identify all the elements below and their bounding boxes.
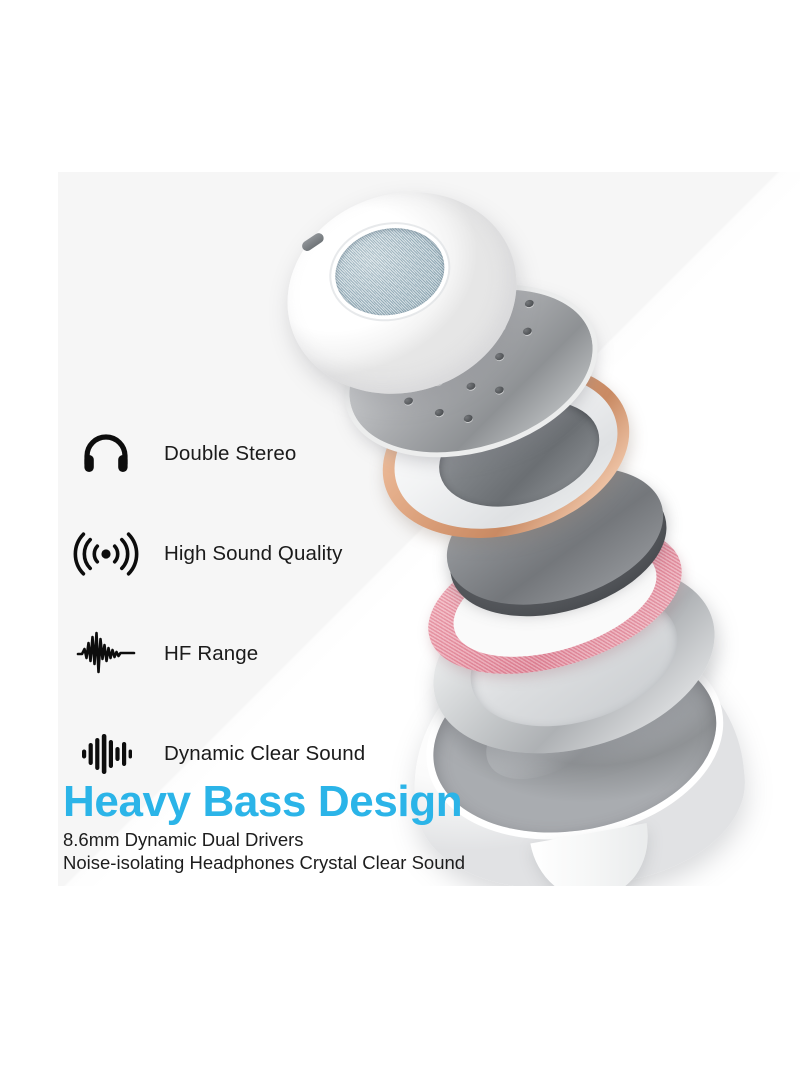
feature-label: Double Stereo bbox=[142, 442, 296, 466]
headphones-icon bbox=[70, 424, 142, 484]
vent-slot bbox=[300, 231, 325, 253]
page-title: Heavy Bass Design bbox=[63, 780, 623, 824]
feature-item-hf-range: HF Range bbox=[70, 604, 420, 704]
signal-waves-icon bbox=[70, 524, 142, 584]
waveform-icon bbox=[70, 624, 142, 684]
audio-bars-icon bbox=[70, 724, 142, 784]
product-feature-image: Double Stereo High Sound Quality bbox=[0, 0, 800, 1091]
subtitle-line-2: Noise-isolating Headphones Crystal Clear… bbox=[63, 852, 623, 875]
feature-label: HF Range bbox=[142, 642, 258, 666]
product-panel: Double Stereo High Sound Quality bbox=[58, 172, 800, 886]
subtitle-line-1: 8.6mm Dynamic Dual Drivers bbox=[63, 829, 623, 852]
feature-label: High Sound Quality bbox=[142, 542, 342, 566]
feature-list: Double Stereo High Sound Quality bbox=[70, 404, 420, 804]
headline-block: Heavy Bass Design 8.6mm Dynamic Dual Dri… bbox=[63, 780, 623, 875]
feature-item-high-sound-quality: High Sound Quality bbox=[70, 504, 420, 604]
feature-item-double-stereo: Double Stereo bbox=[70, 404, 420, 504]
feature-label: Dynamic Clear Sound bbox=[142, 742, 365, 766]
speaker-mesh-grille bbox=[328, 218, 453, 325]
